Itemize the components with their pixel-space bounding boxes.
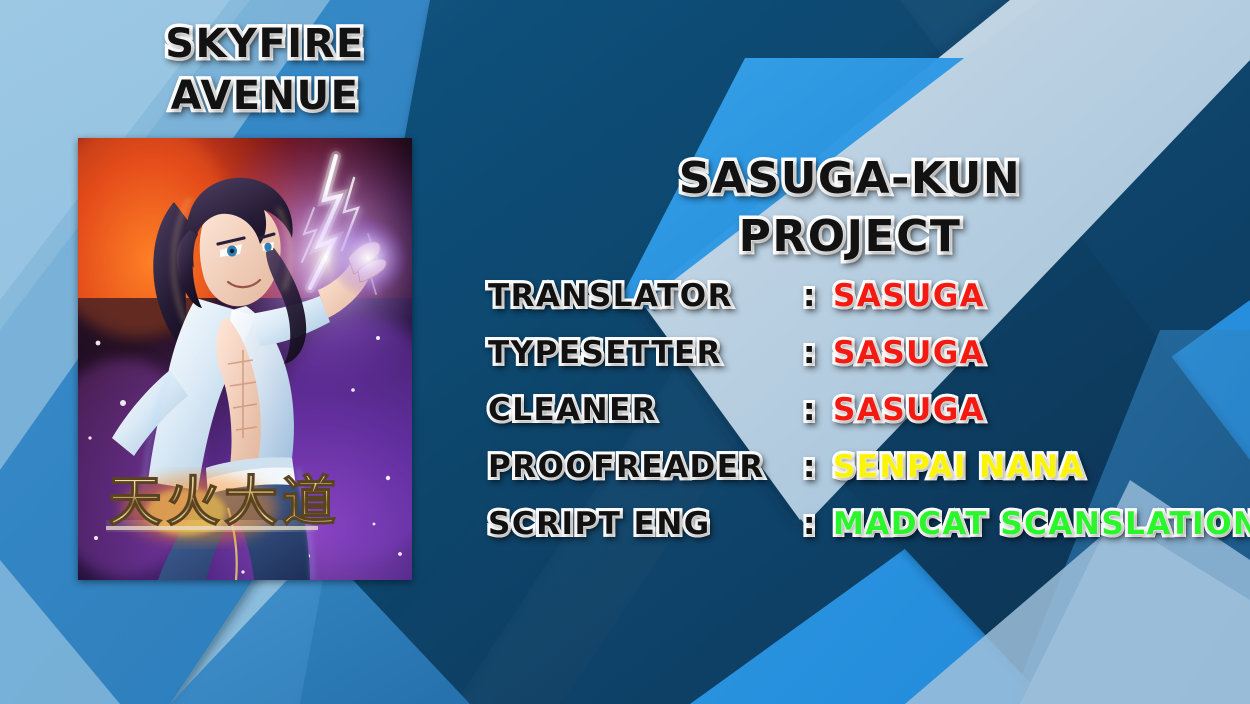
credit-name-value: SASUGA SASUGA [833,335,985,371]
series-title: SKYFIRE SKYFIRE AVENUE AVENUE [130,18,400,122]
cover-art: 天火大道 [78,138,412,580]
credit-role-label: TYPESETTER TYPESETTER [488,335,803,371]
credit-role-label: TRANSLATOR TRANSLATOR [488,278,803,314]
credit-name-value: SENPAI NANA SENPAI NANA [833,449,1085,485]
credit-row-proofreader: PROOFREADER PROOFREADER : : SENPAI NANA … [488,449,1228,506]
credit-name-value: SASUGA SASUGA [833,278,985,314]
group-title-line-1: SASUGA-KUN SASUGA-KUN [660,150,1040,208]
credit-role-label: CLEANER CLEANER [488,392,803,428]
cover-art-illustration: 天火大道 [78,138,412,580]
credit-separator: : : [803,449,833,485]
cover-logo-text: 天火大道 [108,470,340,533]
credits-list: TRANSLATOR TRANSLATOR : : SASUGA SASUGA [488,278,1228,563]
credit-row-script-eng: SCRIPT ENG SCRIPT ENG : : MADCAT SCANSLA… [488,506,1228,563]
credit-row-cleaner: CLEANER CLEANER : : SASUGA SASUGA [488,392,1228,449]
group-title-line-2: PROJECT PROJECT [660,208,1040,266]
credit-separator: : : [803,506,833,542]
cover-logo: 天火大道 [106,470,340,542]
credits-page: SKYFIRE SKYFIRE AVENUE AVENUE [0,0,1250,704]
credit-separator: : : [803,392,833,428]
credit-separator: : : [803,278,833,314]
credit-name-value: SASUGA SASUGA [833,392,985,428]
credit-role-label: SCRIPT ENG SCRIPT ENG [488,506,803,542]
series-title-line-2: AVENUE AVENUE [130,70,400,122]
series-title-line-1: SKYFIRE SKYFIRE [130,18,400,70]
credit-role-label: PROOFREADER PROOFREADER [488,449,803,485]
group-title: SASUGA-KUN SASUGA-KUN PROJECT PROJECT [660,150,1040,266]
credit-row-translator: TRANSLATOR TRANSLATOR : : SASUGA SASUGA [488,278,1228,335]
credit-row-typesetter: TYPESETTER TYPESETTER : : SASUGA SASUGA [488,335,1228,392]
credit-separator: : : [803,335,833,371]
credit-name-value: MADCAT SCANSLATIONS MADCAT SCANSLATIONS [833,506,1250,542]
